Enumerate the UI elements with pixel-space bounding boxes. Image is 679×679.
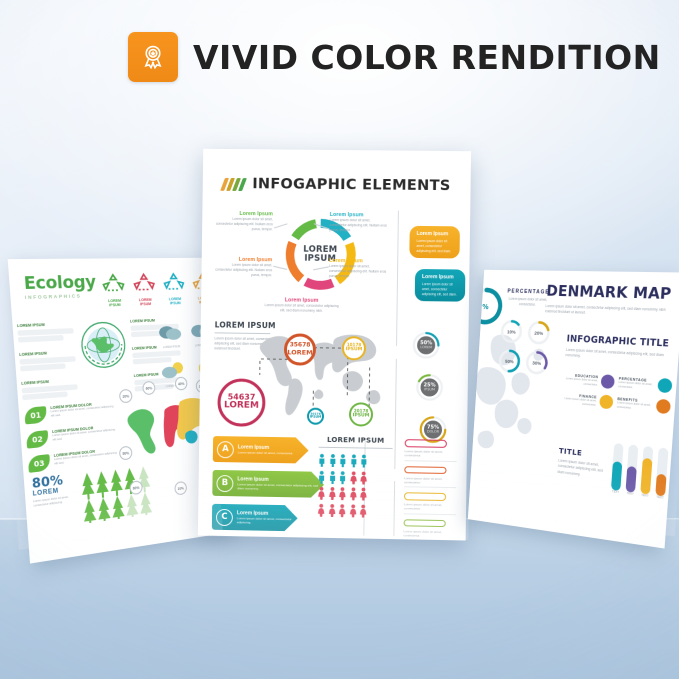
badge-heading: Lorem Ipsum (422, 274, 458, 280)
color-dot (657, 378, 672, 393)
person-icon (329, 470, 336, 483)
person-icon (360, 504, 367, 517)
ecology-globe (75, 316, 132, 379)
person-icon (360, 487, 367, 500)
badge-body: Lorem ipsum dolor sit amet, consectetur … (416, 239, 452, 254)
globe-icon (75, 316, 132, 374)
arrow-banner-b[interactable]: B Lorem Ipsum Lorem ipsum dolor sit amet… (212, 470, 324, 498)
recycle-item: LOREM IPSUM (101, 272, 128, 308)
percent-ring-25: 25% IPSUM (415, 373, 444, 401)
person-icon (339, 454, 346, 467)
section-body: Lorem ipsum dolor sit amet, consectetur … (565, 348, 672, 365)
people-row (318, 454, 392, 468)
person-icon (318, 503, 325, 516)
recycle-icon (132, 272, 157, 293)
rounded-badge-orange[interactable]: Lorem Ipsum Lorem ipsum dolor sit amet, … (409, 226, 460, 259)
denmark-title: DENMARK MAP (546, 283, 676, 303)
recycle-item: LOREM IPSUM (162, 271, 187, 306)
chart-text-block: TITLE Lorem ipsum dolor sit amet, consec… (557, 447, 607, 481)
banner-body: Lorem ipsum dolor sit amet, consectetur. (238, 450, 294, 455)
arrow-banner-a[interactable]: A Lorem Ipsum Lorem ipsum dolor sit amet… (213, 436, 309, 464)
chart-body: Lorem ipsum dolor sit amet, consectetur … (557, 458, 606, 480)
callout-bottom: Lorem Ipsum Lorem ipsum dolor sit amet, … (263, 297, 341, 314)
item-body: Lorem ipsum dolor sit amet, consectetur. (618, 380, 655, 391)
callout-left-1: Lorem Ipsum Lorem ipsum dolor sit amet, … (215, 211, 273, 233)
callout-body: Lorem ipsum dolor sit amet, consectetur … (329, 264, 387, 280)
people-row (318, 487, 392, 501)
callout-right-2: Lorem Ipsum Lorem ipsum dolor sit amet, … (329, 258, 387, 280)
callout-body: Lorem ipsum dolor sit amet, consectetur … (263, 303, 341, 314)
people-section-title: LOREM IPSUM (319, 436, 393, 445)
person-icon (339, 471, 346, 484)
globe-callouts-left: LOREM IPSUM LOREM IPSUM LOREM IPSUM (17, 322, 78, 401)
donut-value: 50% (498, 348, 522, 374)
column-divider (393, 481, 395, 536)
person-icon (339, 504, 346, 517)
color-dot (601, 374, 615, 389)
dot-item-benefits[interactable]: BENEFITS Lorem ipsum dolor sit amet, con… (617, 396, 671, 414)
dot-items-grid: EDUCATION Lorem ipsum dolor sit amet, co… (562, 372, 672, 414)
arrow-banner-c[interactable]: C Lorem Ipsum Lorem ipsum dolor sit amet… (212, 504, 298, 532)
pill-item[interactable]: Lorem ipsum dolor sit amet, consectetur. (404, 439, 457, 461)
tube-bar: TEXT (655, 447, 669, 500)
donut-value: 10% (500, 319, 524, 344)
section-title-block: INFOGRAPHIC TITLE Lorem ipsum dolor sit … (565, 334, 673, 365)
percent-donut-30: 30% (525, 350, 550, 376)
globe-label: LOREM IPSUM (17, 322, 73, 329)
percentage-block: PERCENTAGE Lorem ipsum dolor sit amet, c… (500, 288, 556, 309)
color-dot (656, 399, 671, 414)
person-icon (318, 487, 325, 500)
numbered-item: 02 LOREM IPSUM DOLOR Lorem ipsum dolor s… (26, 424, 119, 449)
svg-text:%: % (482, 303, 489, 312)
pill-list: Lorem ipsum dolor sit amet, consectetur.… (403, 439, 457, 540)
numbered-items: 01 LOREM IPSUM DOLOR Lorem ipsum dolor s… (24, 400, 121, 472)
pill-item[interactable]: Lorem ipsum dolor sit amet, consectetur. (403, 519, 456, 541)
tube-bar: TEXT (640, 446, 653, 498)
pill-text: Lorem ipsum dolor sit amet, consectetur. (403, 529, 455, 538)
stripes-icon (220, 177, 247, 190)
ecology-stat: 80% LOREM Lorem ipsum dolor sit amet, co… (31, 471, 78, 509)
percentage-body: Lorem ipsum dolor sit amet, consectetur. (500, 296, 556, 309)
map-percent-badge: 10% (174, 481, 187, 496)
recycle-icon (101, 272, 127, 294)
pill-shape (405, 439, 447, 447)
banner-letter: C (216, 508, 233, 525)
infographic-elements-poster[interactable]: INFOGAPHIC ELEMENTS (198, 149, 471, 541)
percent-ring-50: 50% LOREM (412, 331, 441, 359)
person-icon (350, 454, 357, 467)
donut-value: 20% (527, 320, 552, 346)
people-section: LOREM IPSUM (318, 436, 393, 521)
pill-text: Lorem ipsum dolor sit amet, consectetur. (404, 476, 456, 485)
recycle-item: LOREM IPSUM (132, 272, 158, 307)
recycle-label-2: IPSUM (140, 302, 151, 307)
tube-bar: TEXT (625, 444, 638, 496)
item-body: Lorem ipsum dolor sit amet, consectetur. (617, 401, 654, 412)
callout-body: Lorem ipsum dolor sit amet, consectetur … (330, 218, 388, 234)
page-header: VIVID COLOR RENDITION (128, 32, 661, 82)
dot-item-finance[interactable]: FINANCE Lorem ipsum dolor sit amet, cons… (562, 392, 613, 410)
percent-donut-10: 10% (500, 319, 524, 344)
person-icon (360, 471, 367, 484)
recycle-items: LOREM IPSUM LOREM IPSUM (101, 271, 216, 308)
tube-bar-chart: TEXT TEXT TEXT TEXT (611, 442, 669, 500)
leaf-badge: 03 (28, 454, 51, 473)
banner-letter: B (216, 474, 233, 491)
person-icon (328, 503, 335, 516)
page-title: VIVID COLOR RENDITION (193, 38, 661, 77)
denmark-body: Lorem ipsum dolor sit amet, consectetur … (545, 304, 675, 320)
center-poster-title: INFOGAPHIC ELEMENTS (252, 176, 451, 194)
banner-body: Lorem ipsum dolor sit amet, consectetur … (237, 516, 298, 526)
callout-left-2: Lorem Ipsum Lorem ipsum dolor sit amet, … (214, 257, 272, 279)
denmark-map-poster[interactable]: % DENMARK MAP Lorem ipsum dolor sit amet… (468, 270, 679, 549)
fold-percent-donut: % (468, 286, 505, 333)
banner-letter: A (217, 441, 234, 458)
pill-item[interactable]: Lorem ipsum dolor sit amet, consectetur. (404, 492, 457, 514)
leaf-badge: 01 (24, 406, 47, 424)
person-icon (329, 454, 336, 467)
people-row (318, 470, 392, 484)
percent-ring-core: 75% DOLOR (424, 420, 442, 438)
dot-item-education[interactable]: EDUCATION Lorem ipsum dolor sit amet, co… (563, 372, 614, 389)
percent-ring-core: 50% LOREM (417, 336, 435, 354)
tube-bar: TEXT (611, 443, 624, 494)
map-percent-badge: 40% (175, 376, 188, 390)
banner-body: Lorem ipsum dolor sit amet, consectetur … (237, 482, 324, 492)
donut-value: 30% (525, 350, 550, 376)
recycle-label-2: IPSUM (109, 303, 121, 308)
person-icon (349, 504, 356, 517)
weather-item: LOREM IPSUM (158, 321, 185, 350)
callout-right-1: Lorem Ipsum Lorem ipsum dolor sit amet, … (330, 212, 388, 234)
percent-donut-20: 20% (527, 320, 552, 346)
map-connector-lines (239, 325, 420, 438)
award-ribbon-icon (128, 32, 178, 82)
person-icon (318, 454, 325, 467)
rounded-badge-teal[interactable]: Lorem Ipsum Lorem ipsum dolor sit amet, … (415, 269, 466, 302)
pill-text: Lorem ipsum dolor sit amet, consectetur. (405, 449, 457, 458)
cloud-icon (158, 321, 184, 341)
callout-body: Lorem ipsum dolor sit amet, consectetur … (214, 263, 272, 279)
dot-item-percentage[interactable]: PERCENTAGE Lorem ipsum dolor sit amet, c… (618, 375, 672, 393)
numbered-item: 01 LOREM IPSUM DOLOR Lorem ipsum dolor s… (24, 400, 118, 424)
color-dot (599, 394, 613, 409)
item-body: Lorem ipsum dolor sit amet, consectetur. (564, 377, 599, 388)
pill-item[interactable]: Lorem ipsum dolor sit amet, consectetur. (404, 466, 457, 488)
person-icon (318, 470, 325, 483)
person-icon (349, 487, 356, 500)
center-title-block: INFOGAPHIC ELEMENTS (203, 176, 471, 195)
percentage-kicker: PERCENTAGE (501, 288, 556, 296)
leaf-badge: 02 (26, 430, 49, 449)
pill-shape (404, 519, 446, 527)
person-icon (350, 471, 357, 484)
recycle-icon (162, 271, 186, 292)
percent-donut-50: 50% (498, 348, 522, 374)
badge-heading: Lorem Ipsum (417, 231, 453, 237)
pill-shape (404, 492, 446, 500)
person-icon (339, 487, 346, 500)
pill-shape (404, 466, 446, 474)
badge-body: Lorem ipsum dolor sit amet, consectetur … (422, 282, 458, 297)
person-icon (328, 487, 335, 500)
denmark-title-block: DENMARK MAP Lorem ipsum dolor sit amet, … (545, 283, 676, 319)
people-row (318, 503, 392, 517)
column-divider (396, 211, 399, 346)
callout-body: Lorem ipsum dolor sit amet, consectetur … (215, 217, 273, 233)
percent-donuts: 10% 20% 50% 30% (498, 319, 555, 376)
person-icon (360, 454, 367, 467)
recycle-label-2: IPSUM (170, 301, 181, 305)
pill-text: Lorem ipsum dolor sit amet, consectetur. (404, 502, 456, 511)
